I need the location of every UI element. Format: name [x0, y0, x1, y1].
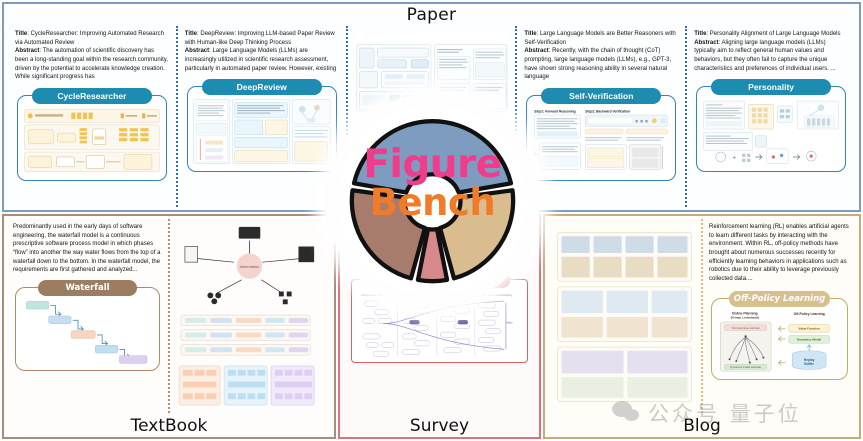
textbook-card-text: Predominantly used in the early days of … [13, 223, 162, 275]
abstract-label: Abstract [524, 48, 548, 54]
paper-card-list: Title: CycleResearcher: Improving Automa… [8, 26, 855, 207]
figure-diagram-icon [22, 105, 162, 176]
svg-text:Dynamics Model: Dynamics Model [797, 337, 821, 341]
blog-card-text: Reinforcement learning (RL) enables arti… [709, 223, 850, 284]
svg-text:Information: Information [240, 264, 260, 269]
title-text: : Large Language Models are Better Reaso… [524, 31, 675, 46]
textbook-card-list: Predominantly used in the early days of … [7, 219, 331, 413]
figure-diagram-icon: + [701, 96, 841, 167]
svg-text:Step2: Backward Verification: Step2: Backward Verification [586, 110, 631, 114]
title-label: Title [694, 31, 706, 37]
paper-card-self-verification[interactable]: Title: Large Language Models are Better … [517, 26, 687, 207]
svg-text:Buffer: Buffer [804, 362, 814, 366]
paper-figure-self-verification[interactable]: Step1: Forward Reasoning Step2: Backward… [526, 95, 676, 181]
figurebench-poster: Paper Title: CycleResearcher: Improving … [0, 0, 863, 441]
svg-text:Video: Video [506, 321, 513, 325]
title-text: : Personality Alignment of Large Languag… [706, 31, 840, 37]
paper-card-personality[interactable]: Title: Personality Alignment of Large La… [687, 26, 855, 207]
textbook-figure-waterfall[interactable] [15, 287, 160, 371]
figure-diagram-icon [554, 223, 695, 409]
svg-text:Off-Policy Learning: Off-Policy Learning [794, 312, 825, 316]
paper-badge-deepreview[interactable]: DeepReview [202, 79, 322, 95]
survey-figure-video-understanding[interactable]: Conventional MethodsDeep Neural Video Me… [351, 279, 528, 363]
textbook-card-waterfall[interactable]: Predominantly used in the early days of … [7, 219, 170, 413]
watermark: 公众号 量子位 [612, 398, 802, 428]
blog-card-secondary[interactable] [548, 219, 703, 413]
paper-badge-self-verification[interactable]: Self-Verification [541, 88, 661, 104]
svg-text:Conventional Methods: Conventional Methods [361, 293, 387, 297]
svg-text:Terminal value estimate: Terminal value estimate [732, 326, 761, 330]
survey-region-title: Survey [340, 416, 539, 436]
wechat-icon [612, 401, 642, 425]
abstract-label: Abstract [185, 48, 209, 54]
paper-figure-personality[interactable]: + [696, 86, 846, 172]
survey-card-list: 1) Conventional approaches of video unde… [343, 219, 536, 413]
paper-badge-cycleresearcher[interactable]: CycleResearcher [32, 88, 152, 104]
paper-card-text: Title: Large Language Models are Better … [524, 30, 678, 82]
paper-card-deepreview[interactable]: Title: DeepReview: Improving LLM-based P… [178, 26, 348, 207]
figure-diagram-icon [20, 297, 155, 366]
blog-figure-off-policy-learning[interactable]: Online Planning (H-step Lookahead) Off-P… [711, 298, 848, 380]
title-text: : DeepReview: Improving LLM-based Paper … [185, 31, 335, 46]
svg-text:+: + [732, 155, 736, 162]
blog-badge-off-policy-learning[interactable]: Off-Policy Learning [729, 291, 831, 307]
paper-card-text: Title: DeepReview: Improving LLM-based P… [185, 30, 339, 73]
figure-diagram-icon [355, 30, 509, 200]
paper-card-text: Title: CycleResearcher: Improving Automa… [15, 30, 169, 82]
watermark-text: 公众号 量子位 [648, 398, 802, 428]
paper-region-title: Paper [4, 5, 859, 25]
abstract-label: Abstract [694, 40, 718, 46]
blog-card-off-policy-learning[interactable]: Reinforcement learning (RL) enables arti… [703, 219, 856, 413]
figure-diagram-icon: Information [176, 223, 325, 409]
figure-diagram-icon: Conventional MethodsDeep Neural Video Me… [356, 289, 523, 358]
survey-card-video-understanding[interactable]: 1) Conventional approaches of video unde… [343, 219, 536, 413]
paper-figure-center[interactable] [355, 30, 509, 200]
title-label: Title [524, 31, 536, 37]
textbook-card-secondary[interactable]: Information [170, 219, 331, 413]
survey-card-text: 1) Conventional approaches of video unde… [349, 223, 530, 266]
paper-card-text: Title: Personality Alignment of Large La… [694, 30, 848, 73]
paper-figure-cycleresearcher[interactable] [17, 95, 167, 181]
paper-figure-deepreview[interactable] [187, 86, 337, 172]
svg-text:Deep Neural Video Methods: Deep Neural Video Methods [401, 293, 434, 297]
svg-text:Step1: Forward Reasoning: Step1: Forward Reasoning [535, 110, 576, 114]
figure-diagram-icon: Step1: Forward Reasoning Step2: Backward… [531, 105, 671, 176]
svg-text:Value Function: Value Function [798, 326, 820, 330]
textbook-region-title: TextBook [4, 416, 334, 436]
svg-text:Self-Supervised Video Pretrain: Self-Supervised Video Pretraining [440, 293, 479, 297]
svg-text:Agentic Video Understanding: Agentic Video Understanding [478, 293, 512, 297]
svg-text:Dynamics model estimate: Dynamics model estimate [730, 365, 761, 369]
figure-diagram-icon [192, 96, 332, 167]
paper-card-cycleresearcher[interactable]: Title: CycleResearcher: Improving Automa… [8, 26, 178, 207]
survey-badge-video-understanding[interactable]: Video Understanding [369, 272, 510, 288]
paper-card-center[interactable] [348, 26, 518, 207]
figure-diagram-icon: Online Planning (H-step Lookahead) Off-P… [716, 308, 843, 375]
title-label: Title [185, 31, 197, 37]
paper-badge-personality[interactable]: Personality [711, 79, 831, 95]
title-text: : CycleResearcher: Improving Automated R… [15, 31, 164, 46]
textbook-region: Predominantly used in the early days of … [2, 214, 336, 439]
title-label: Title [15, 31, 27, 37]
abstract-label: Abstract [15, 48, 39, 54]
blog-card-list: Reinforcement learning (RL) enables arti… [548, 219, 856, 413]
svg-text:(H-step Lookahead): (H-step Lookahead) [731, 315, 759, 319]
paper-region: Paper Title: CycleResearcher: Improving … [2, 2, 861, 212]
survey-region: 1) Conventional approaches of video unde… [338, 214, 541, 439]
textbook-badge-waterfall[interactable]: Waterfall [38, 280, 136, 296]
